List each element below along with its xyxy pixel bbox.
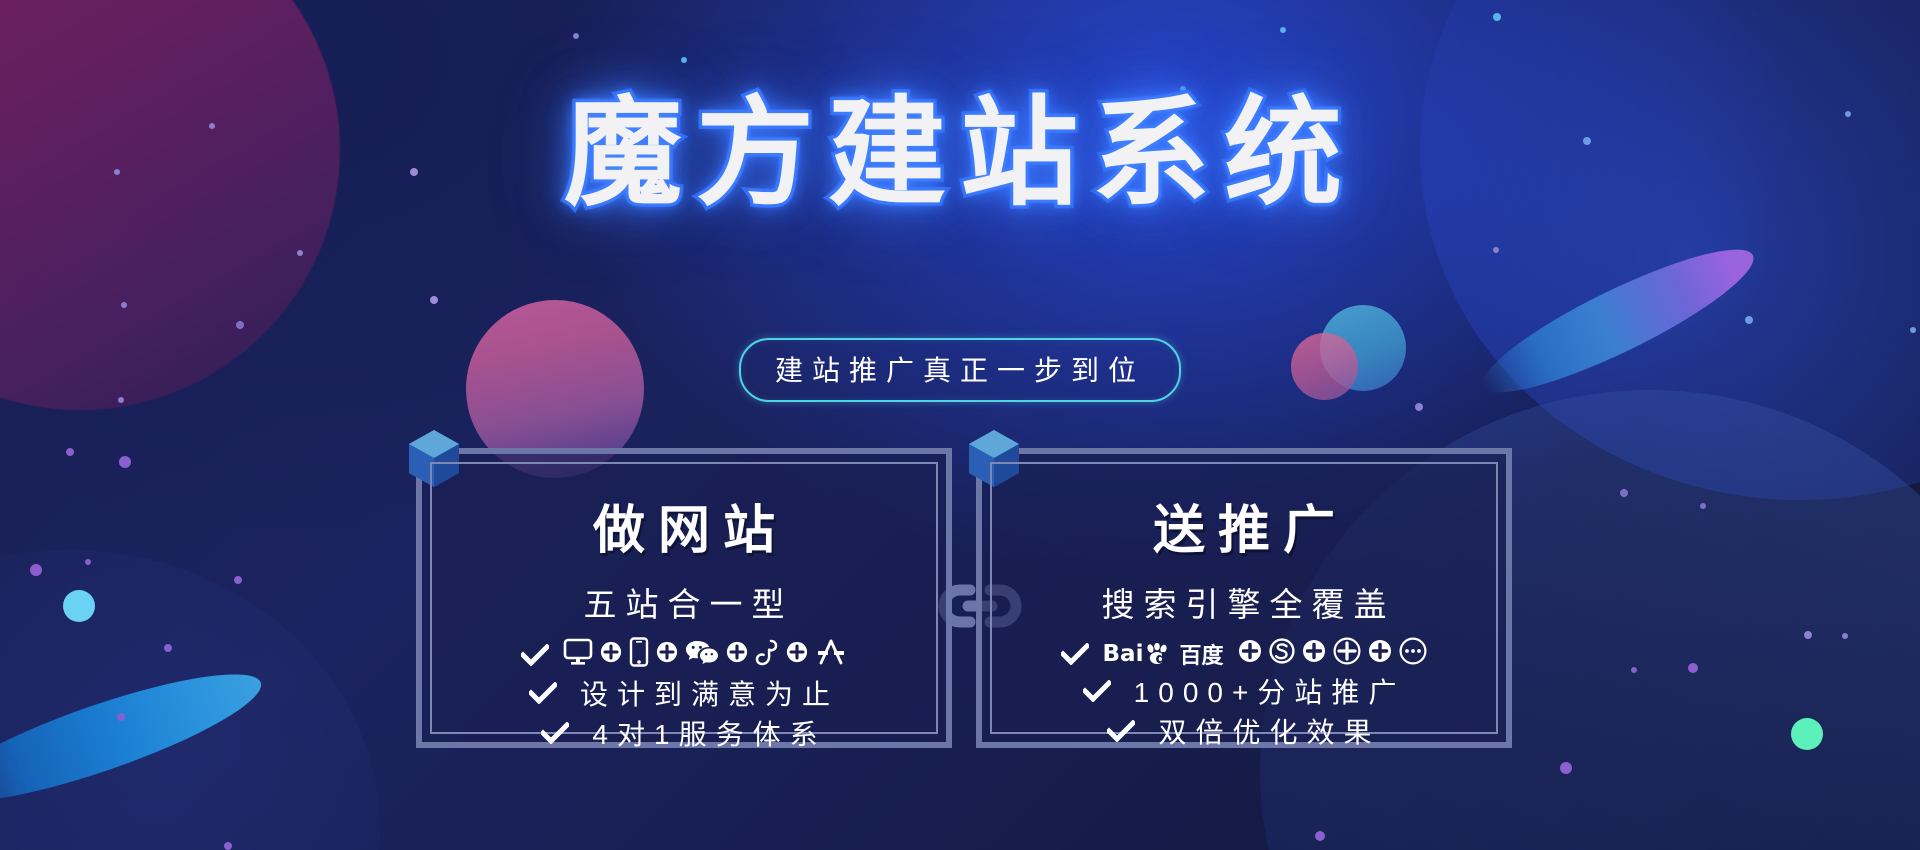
star-dot	[681, 57, 687, 63]
search-engine-icon-row: Bai du 百度	[1103, 637, 1428, 670]
feature-row-text-right-1: 1000+分站推广	[1083, 672, 1406, 710]
star-dot	[1560, 762, 1572, 774]
wechat-icon	[685, 639, 719, 670]
feature-row-icons-left	[521, 637, 847, 672]
star-dot	[1280, 27, 1286, 33]
panel-subtitle-right: 搜索引擎全覆盖	[1093, 578, 1396, 626]
check-icon	[541, 722, 569, 744]
feature-row-text-left-1: 设计到满意为止	[529, 674, 839, 712]
douyin-note-icon	[755, 638, 779, 671]
baidu-logo-text: Bai	[1103, 641, 1144, 667]
star-dot	[430, 296, 438, 304]
panel-inner-right: 送推广 搜索引擎全覆盖 Bai	[990, 462, 1498, 734]
plus-circle-outline-icon	[1333, 637, 1361, 670]
star-dot	[224, 842, 232, 850]
feature-panels: 做网站 五站合一型	[0, 448, 1920, 748]
desktop-monitor-icon	[563, 638, 593, 671]
feature-row-text-left-2: 4对1服务体系	[541, 714, 826, 752]
plus-circle-icon	[600, 641, 622, 668]
sogou-icon	[1269, 638, 1295, 669]
star-dot	[1910, 327, 1916, 333]
hero-subtitle-pill: 建站推广真正一步到位	[739, 338, 1181, 402]
panel-box-right: 送推广 搜索引擎全覆盖 Bai	[976, 448, 1512, 748]
feature-text: 1000+分站推广	[1125, 671, 1406, 711]
plus-circle-icon	[786, 641, 808, 668]
feature-text: 设计到满意为止	[571, 673, 839, 713]
star-dot	[1493, 13, 1501, 21]
banner-stage: 魔方建站系统 建站推广真正一步到位	[0, 0, 1920, 850]
star-dot	[1493, 247, 1499, 253]
star-dot	[1745, 316, 1753, 324]
plus-circle-icon	[656, 641, 678, 668]
baidu-logo-cn: 百度	[1179, 638, 1223, 670]
plus-circle-icon	[726, 641, 748, 668]
panel-title-left: 做网站	[580, 488, 788, 563]
star-dot	[121, 302, 127, 308]
plus-circle-icon	[1302, 639, 1326, 668]
check-icon	[1107, 720, 1135, 742]
check-icon	[1083, 680, 1111, 702]
feature-row-icons-right: Bai du 百度	[1061, 637, 1428, 670]
star-dot	[573, 33, 579, 39]
feature-text: 4对1服务体系	[583, 713, 826, 753]
panel-box-left: 做网站 五站合一型	[416, 448, 952, 748]
panel-subtitle-left: 五站合一型	[575, 578, 794, 626]
baidu-logo: Bai du 百度	[1103, 638, 1224, 670]
hero-header: 魔方建站系统	[0, 92, 1920, 215]
star-dot	[297, 250, 303, 256]
panel-make-website: 做网站 五站合一型	[400, 448, 960, 748]
smartphone-icon	[629, 637, 649, 672]
more-ellipsis-icon	[1399, 637, 1427, 670]
panel-free-promotion: 送推广 搜索引擎全覆盖 Bai	[960, 448, 1520, 748]
page-title: 魔方建站系统	[564, 92, 1356, 215]
panel-title-right: 送推广	[1140, 488, 1348, 563]
hero-subtitle-wrap: 建站推广真正一步到位	[0, 338, 1920, 402]
check-icon	[521, 644, 549, 666]
check-icon	[1061, 643, 1089, 665]
baidu-logo-du: du	[1155, 651, 1175, 667]
check-icon	[529, 682, 557, 704]
plus-circle-icon	[1368, 639, 1392, 668]
feature-row-text-right-2: 双倍优化效果	[1107, 712, 1380, 750]
app-store-icon	[815, 639, 847, 670]
feature-text: 双倍优化效果	[1149, 711, 1380, 751]
platform-icon-row	[563, 637, 847, 672]
panel-inner-left: 做网站 五站合一型	[430, 462, 938, 734]
star-dot	[1315, 831, 1325, 841]
plus-circle-icon	[1238, 639, 1262, 668]
star-dot	[1415, 403, 1423, 411]
star-dot	[236, 321, 244, 329]
